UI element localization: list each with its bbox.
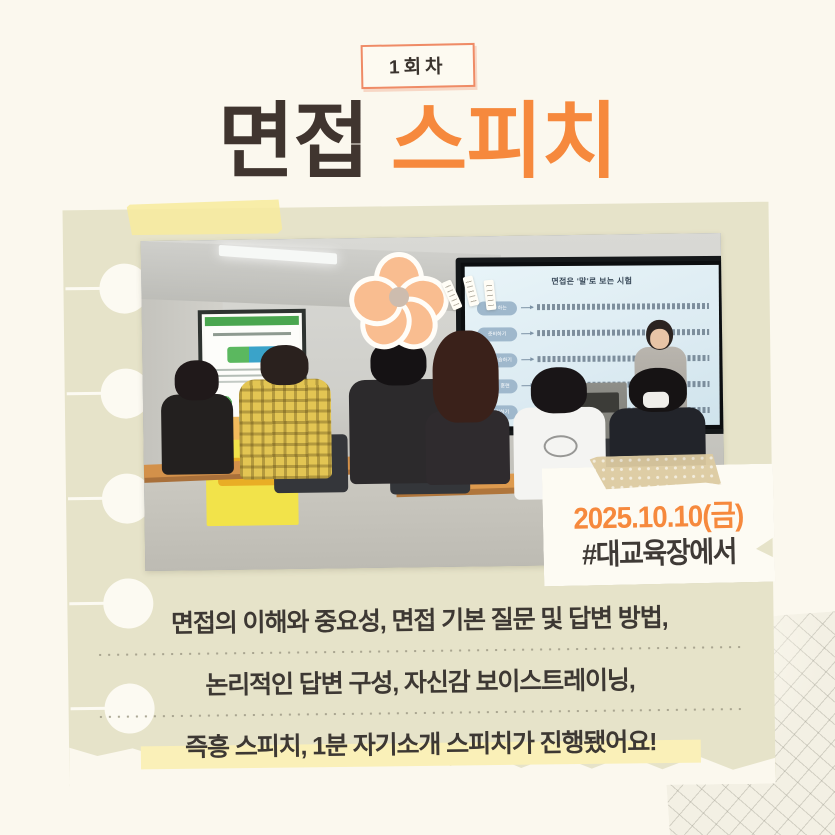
event-place: #대교육장에서 bbox=[551, 528, 767, 574]
session-badge: 1회차 bbox=[360, 43, 474, 89]
description-text: 면접의 이해와 중요성, 면접 기본 질문 및 답변 방법, bbox=[171, 604, 668, 638]
slide-row: 내가 하는 bbox=[477, 299, 709, 317]
yellow-washi-tape bbox=[127, 199, 283, 236]
confetti-piece bbox=[483, 280, 496, 311]
student-head bbox=[531, 367, 588, 414]
face-mask bbox=[643, 392, 669, 408]
student-body bbox=[161, 394, 234, 475]
description-line-highlighted: 즉흥 스피치, 1분 자기소개 스피치가 진행됐어요! bbox=[96, 712, 745, 776]
header: 1회차 면접 스피치 bbox=[0, 44, 835, 186]
student-head bbox=[432, 330, 499, 423]
presenter-face bbox=[650, 329, 669, 349]
description-text: 즉흥 스피치, 1분 자기소개 스피치가 진행됐어요! bbox=[185, 728, 657, 762]
flower-center bbox=[389, 287, 409, 307]
confetti-piece bbox=[463, 275, 480, 307]
student-body bbox=[239, 378, 332, 479]
description-line: 논리적인 답변 구성, 자신감 보이스트레이닝, bbox=[96, 650, 745, 714]
description-block: 면접의 이해와 중요성, 면접 기본 질문 및 답변 방법, 논리적인 답변 구… bbox=[95, 588, 745, 776]
student bbox=[160, 360, 234, 473]
student bbox=[424, 330, 510, 481]
student-head bbox=[260, 345, 309, 386]
slide-arrow-icon bbox=[521, 359, 533, 360]
student-head bbox=[370, 339, 427, 386]
poster-band bbox=[205, 316, 299, 326]
description-line: 면접의 이해와 중요성, 면접 기본 질문 및 답변 방법, bbox=[95, 588, 744, 652]
poster-card: 1회차 면접 스피치 bbox=[0, 0, 835, 835]
page-title: 면접 스피치 bbox=[0, 98, 835, 186]
student-head bbox=[174, 360, 219, 401]
flower-sticker bbox=[358, 257, 440, 337]
poster-line bbox=[213, 332, 291, 336]
title-accent: 스피치 bbox=[391, 95, 617, 188]
confetti-sticker bbox=[447, 276, 505, 316]
description-text: 논리적인 답변 구성, 자신감 보이스트레이닝, bbox=[205, 666, 635, 699]
slide-arrow-icon bbox=[521, 333, 533, 334]
slide-arrow-icon bbox=[521, 307, 533, 308]
title-dark: 면접 bbox=[218, 95, 369, 188]
student bbox=[238, 344, 332, 477]
slide-text bbox=[537, 303, 709, 310]
